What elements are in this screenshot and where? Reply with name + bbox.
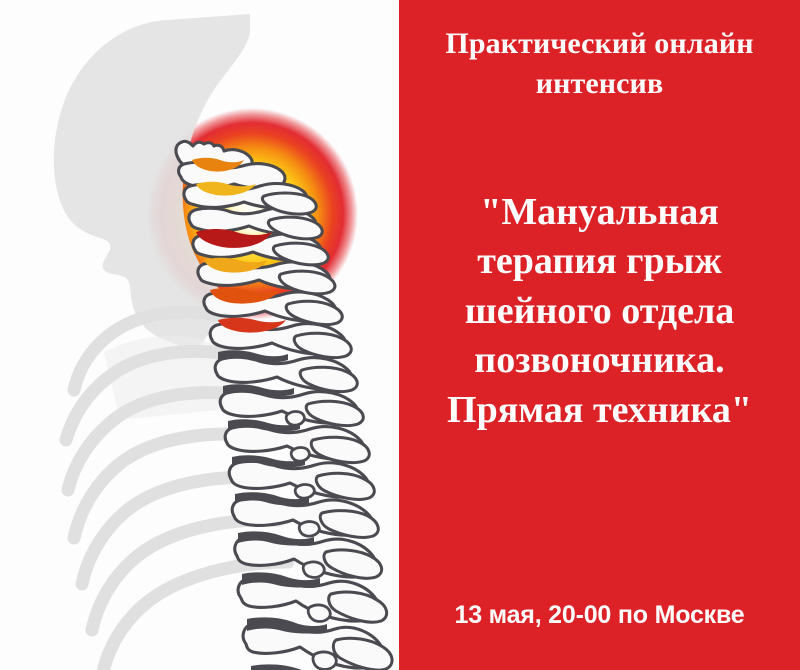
eyebrow-line-1: Практический онлайн bbox=[417, 24, 782, 64]
eyebrow-line-2: интенсив bbox=[417, 64, 782, 104]
title-line-5: Прямая техника" bbox=[413, 386, 786, 435]
spine-illustration-svg bbox=[0, 0, 399, 670]
main-title: "Мануальная терапия грыж шейного отдела … bbox=[413, 188, 786, 435]
title-line-3: шейного отдела bbox=[413, 287, 786, 336]
nub-l1 bbox=[303, 562, 324, 578]
nub-t3 bbox=[286, 412, 304, 426]
eyebrow-heading: Практический онлайн интенсив bbox=[417, 24, 782, 103]
promo-banner: Практический онлайн интенсив "Мануальная… bbox=[0, 0, 800, 670]
nub-l3 bbox=[313, 652, 336, 669]
event-date-time: 13 мая, 20-00 по Москве bbox=[417, 600, 782, 630]
nub-t5 bbox=[295, 485, 314, 499]
red-text-panel: Практический онлайн интенсив "Мануальная… bbox=[399, 0, 800, 670]
title-line-4: позвоночника. bbox=[413, 336, 786, 385]
title-line-2: терапия грыж bbox=[413, 237, 786, 286]
title-line-1: "Мануальная bbox=[413, 188, 786, 237]
cervical-spine-illustration bbox=[0, 0, 399, 670]
nub-t4 bbox=[291, 448, 309, 462]
nub-t6 bbox=[299, 522, 319, 537]
nub-l2 bbox=[308, 605, 330, 621]
